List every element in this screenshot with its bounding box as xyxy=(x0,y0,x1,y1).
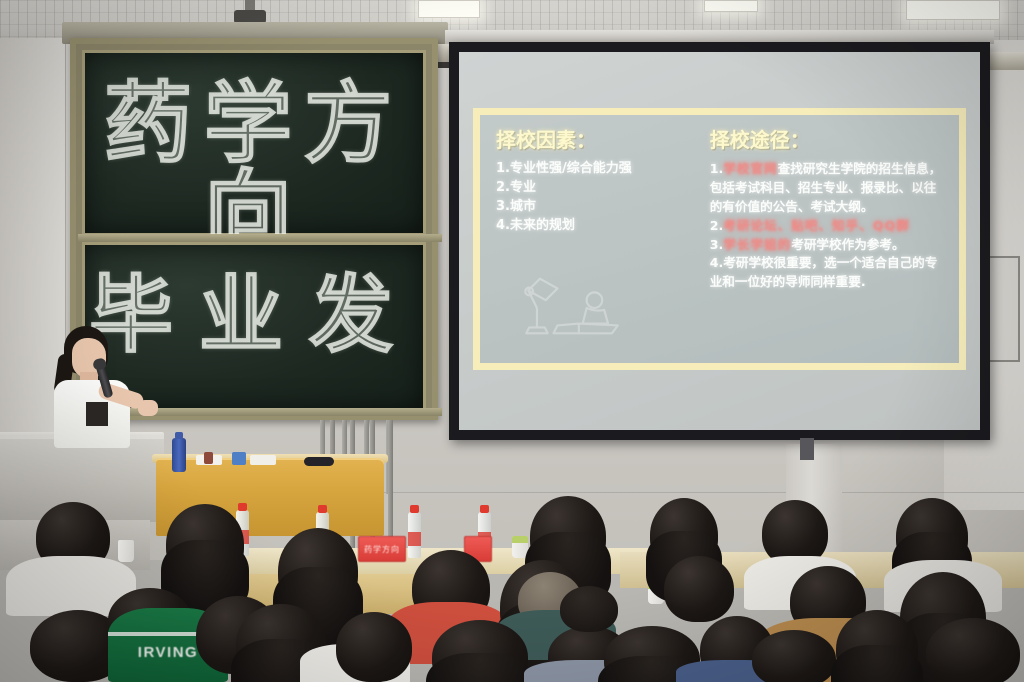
blue-bottle xyxy=(172,438,186,472)
slide-content: 择校因素： 1.专业性强/综合能力强 2.专业 3.城市 4.未来的规划 xyxy=(480,115,959,363)
blackboard-divider-rail xyxy=(78,234,442,242)
screen-surface: 择校因素： 1.专业性强/综合能力强 2.专业 3.城市 4.未来的规划 xyxy=(459,52,980,430)
audience-head xyxy=(664,556,734,622)
paper-cup xyxy=(118,540,134,562)
audience-head xyxy=(166,504,244,584)
desk-box xyxy=(232,452,246,465)
audience-head xyxy=(336,612,412,682)
item-highlight: 学校官网 xyxy=(723,161,777,176)
ceiling-light xyxy=(704,0,758,12)
lecture-hall-scene: 药学方向 毕业发 择校因素： 1.专业性强/综合能力强 2.专业 3.城市 xyxy=(0,0,1024,682)
slide-right-item: 2.考研论坛、贴吧、知乎、QQ群 xyxy=(710,217,943,236)
audience-head xyxy=(278,528,358,614)
audience-head xyxy=(560,586,618,632)
desk-paper xyxy=(250,455,276,465)
slide-right-item: 3.学长学姐的考研学校作为参考。 xyxy=(710,236,943,255)
item-highlight: 学长学姐的 xyxy=(723,237,791,252)
speaker-presenter xyxy=(46,326,158,456)
blackboard-pane-top: 药学方向 xyxy=(82,50,426,236)
slide-right-item: 4.考研学校很重要，选一个适合自己的专业和一位好的导师同样重要. xyxy=(710,254,943,292)
ceiling-light xyxy=(906,0,1000,20)
audience-head xyxy=(926,618,1020,682)
blackboard-text-top: 药学方向 xyxy=(85,79,423,255)
speaker-shirt-print xyxy=(86,402,108,426)
item-text: 考研学校很重要，选一个适合自己的专业和一位好的导师同样重要. xyxy=(710,255,938,289)
water-bottle xyxy=(408,512,421,558)
slide-left-item: 3.城市 xyxy=(496,198,694,217)
slide-left-item: 2.专业 xyxy=(496,179,694,198)
desk-object xyxy=(204,452,213,464)
slide-right-heading: 择校途径： xyxy=(710,129,943,151)
speaker-hand xyxy=(138,400,158,416)
item-number: 3. xyxy=(710,237,724,252)
slide-left-heading: 择校因素： xyxy=(496,129,694,151)
item-number: 1. xyxy=(710,161,724,176)
projection-screen: 择校因素： 1.专业性强/综合能力强 2.专业 3.城市 4.未来的规划 xyxy=(449,42,990,440)
item-number: 2. xyxy=(710,218,724,233)
item-highlight: 考研论坛、贴吧、知乎、QQ群 xyxy=(723,218,910,233)
audience-head xyxy=(752,630,836,682)
item-text: 考研学校作为参考。 xyxy=(791,237,904,252)
screen-bottom-weight xyxy=(800,438,814,460)
wall-notice-frame xyxy=(986,256,1020,362)
name-placard: 药学方向 xyxy=(358,536,406,562)
slide-left-item: 1.专业性强/综合能力强 xyxy=(496,160,694,179)
slide-right-item: 1.学校官网查找研究生学院的招生信息，包括考试科目、招生专业、报录比、以往的有价… xyxy=(710,160,943,217)
ceiling-light xyxy=(418,0,480,18)
slide-left-column: 择校因素： 1.专业性强/综合能力强 2.专业 3.城市 4.未来的规划 xyxy=(496,129,694,349)
item-number: 4. xyxy=(710,255,724,270)
desk-dark-object xyxy=(304,457,334,466)
desk-lamp-reader-icon xyxy=(514,269,632,343)
slide-border: 择校因素： 1.专业性强/综合能力强 2.专业 3.城市 4.未来的规划 xyxy=(473,108,966,370)
slide-left-item: 4.未来的规划 xyxy=(496,217,694,236)
audience-head xyxy=(836,610,918,682)
slide-right-column: 择校途径： 1.学校官网查找研究生学院的招生信息，包括考试科目、招生专业、报录比… xyxy=(710,129,943,349)
